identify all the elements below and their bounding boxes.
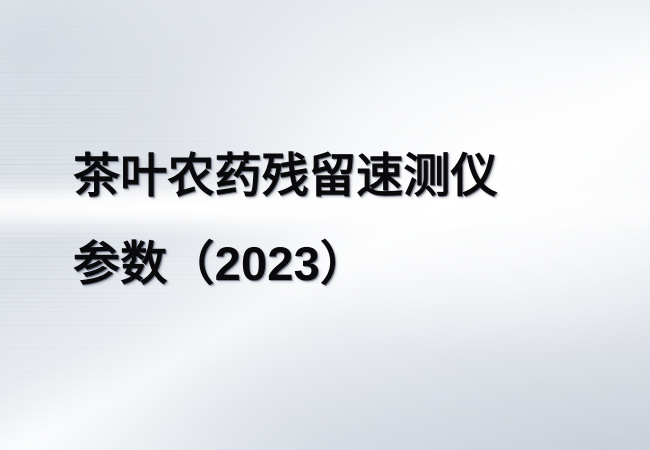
slide-title: 茶叶农药残留速测仪 参数（2023）: [73, 132, 613, 308]
title-line-2: 参数（2023）: [73, 220, 613, 308]
slide-canvas: 茶叶农药残留速测仪 参数（2023）: [0, 0, 650, 450]
title-line-1: 茶叶农药残留速测仪: [73, 132, 613, 220]
